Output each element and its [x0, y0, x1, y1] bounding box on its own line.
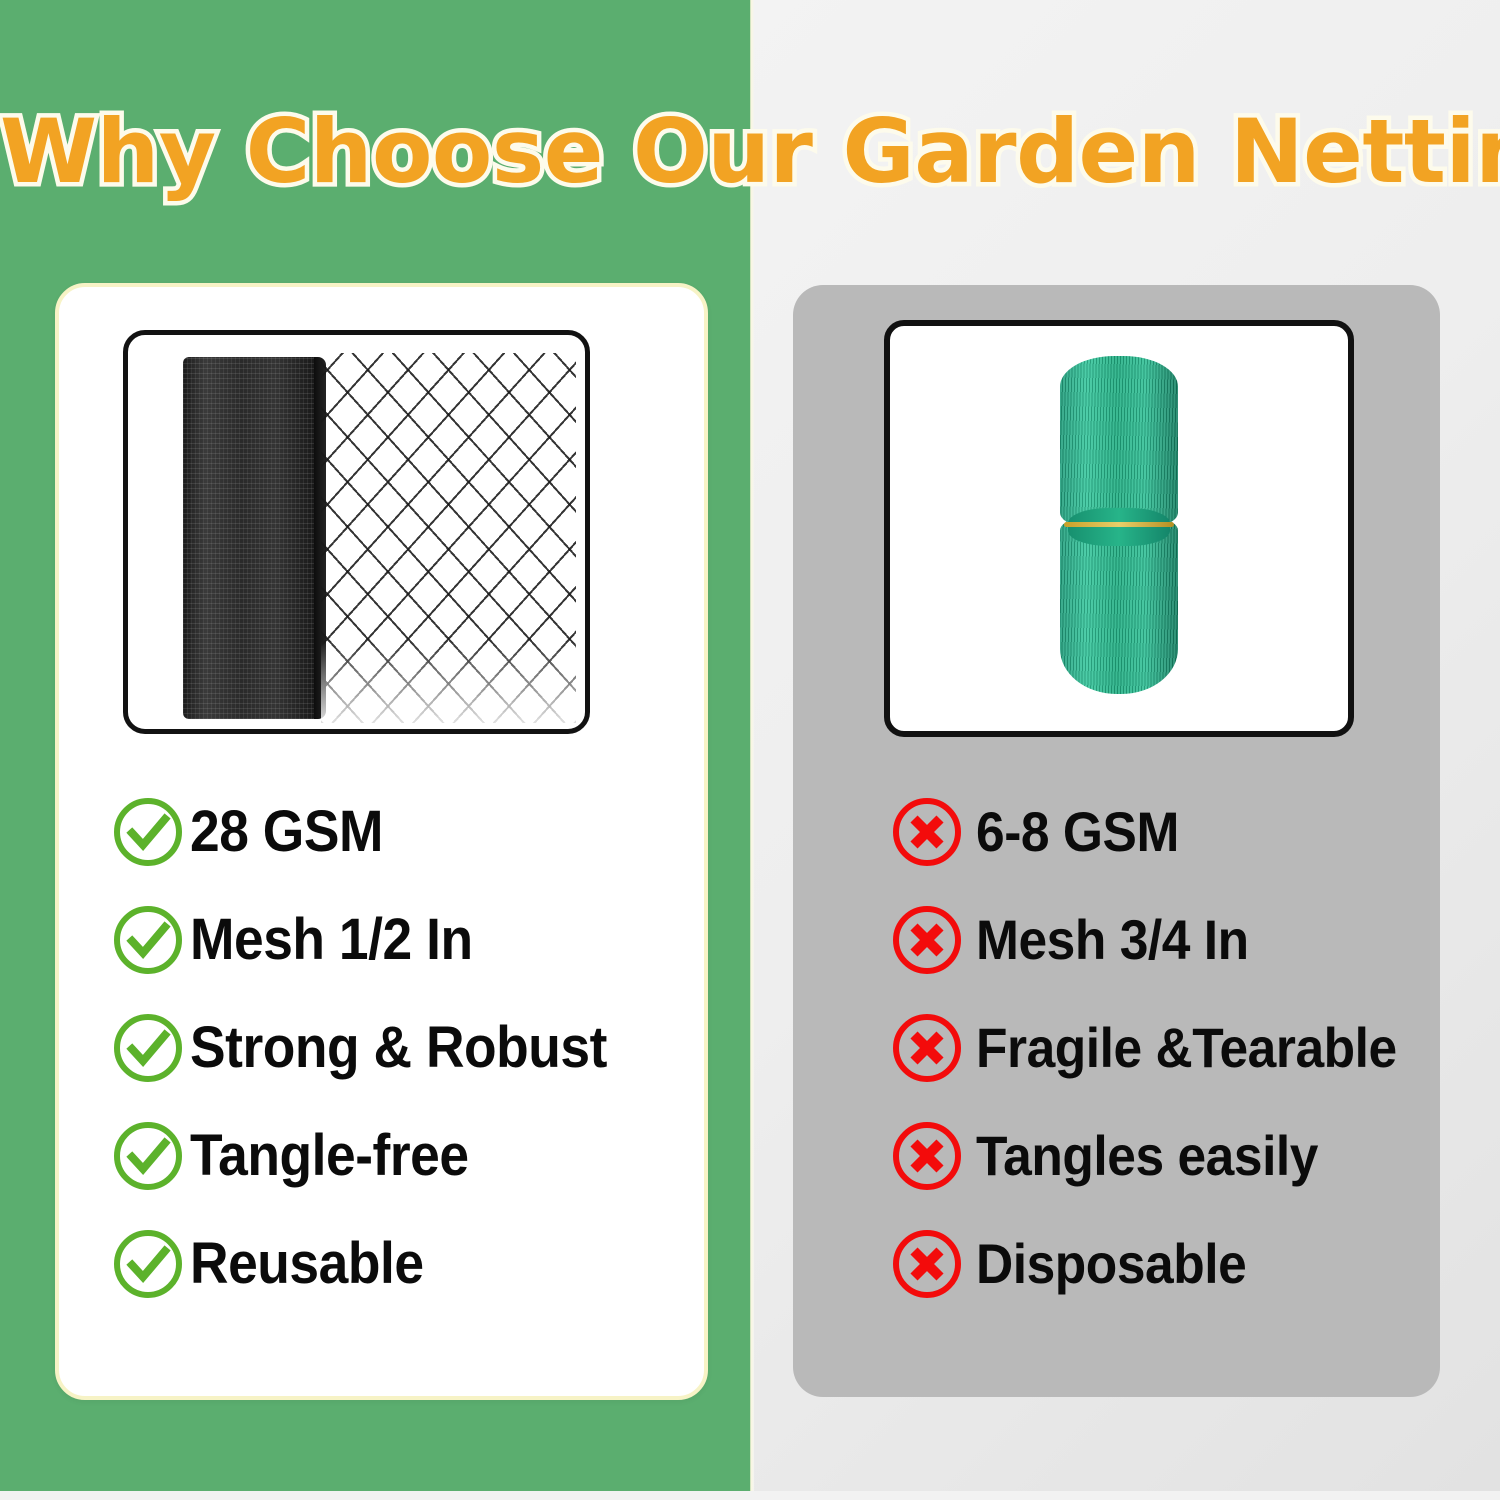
check-circle-icon [112, 1228, 184, 1300]
feature-label: Tangles easily [976, 1128, 1318, 1184]
feature-label: Reusable [190, 1235, 424, 1293]
feature-label: Fragile &Tearable [976, 1020, 1397, 1076]
list-item: 28 GSM [112, 778, 692, 886]
cross-circle-icon [890, 1119, 964, 1193]
black-netting-roll-icon [183, 357, 323, 719]
left-product-image-frame [123, 330, 590, 734]
feature-label: 6-8 GSM [976, 804, 1179, 860]
list-item: Disposable [890, 1210, 1450, 1318]
cross-circle-icon [890, 903, 964, 977]
hank-bottom-lobe [1060, 520, 1178, 694]
cross-circle-icon [890, 1227, 964, 1301]
mesh-fade-overlay [321, 353, 576, 723]
right-product-image-frame [884, 320, 1354, 737]
green-netting-hank-icon [1060, 356, 1178, 694]
yellow-tie-icon [1064, 522, 1174, 527]
list-item: Reusable [112, 1210, 692, 1318]
left-feature-list: 28 GSM Mesh 1/2 In Strong & Robust Tangl… [112, 778, 692, 1318]
feature-label: Disposable [976, 1236, 1246, 1292]
check-circle-icon [112, 904, 184, 976]
bottom-strip [0, 1491, 1500, 1500]
hank-waist [1068, 508, 1170, 546]
list-item: Tangles easily [890, 1102, 1450, 1210]
list-item: Tangle-free [112, 1102, 692, 1210]
right-feature-list: 6-8 GSM Mesh 3/4 In Fragile &Tearable Ta… [890, 778, 1450, 1318]
feature-label: Tangle-free [190, 1127, 469, 1185]
list-item: 6-8 GSM [890, 778, 1450, 886]
check-circle-icon [112, 796, 184, 868]
list-item: Strong & Robust [112, 994, 692, 1102]
feature-label: Strong & Robust [190, 1019, 607, 1077]
hank-top-lobe [1060, 356, 1178, 526]
panel-divider [745, 0, 754, 1491]
cross-circle-icon [890, 795, 964, 869]
page-title: Why Choose Our Garden Netting? [0, 92, 1500, 212]
list-item: Fragile &Tearable [890, 994, 1450, 1102]
feature-label: Mesh 3/4 In [976, 912, 1249, 968]
check-circle-icon [112, 1120, 184, 1192]
feature-label: Mesh 1/2 In [190, 911, 473, 969]
comparison-infographic: Why Choose Our Garden Netting? 28 GSM Me… [0, 0, 1500, 1500]
feature-label: 28 GSM [190, 803, 383, 861]
list-item: Mesh 3/4 In [890, 886, 1450, 994]
check-circle-icon [112, 1012, 184, 1084]
list-item: Mesh 1/2 In [112, 886, 692, 994]
cross-circle-icon [890, 1011, 964, 1085]
